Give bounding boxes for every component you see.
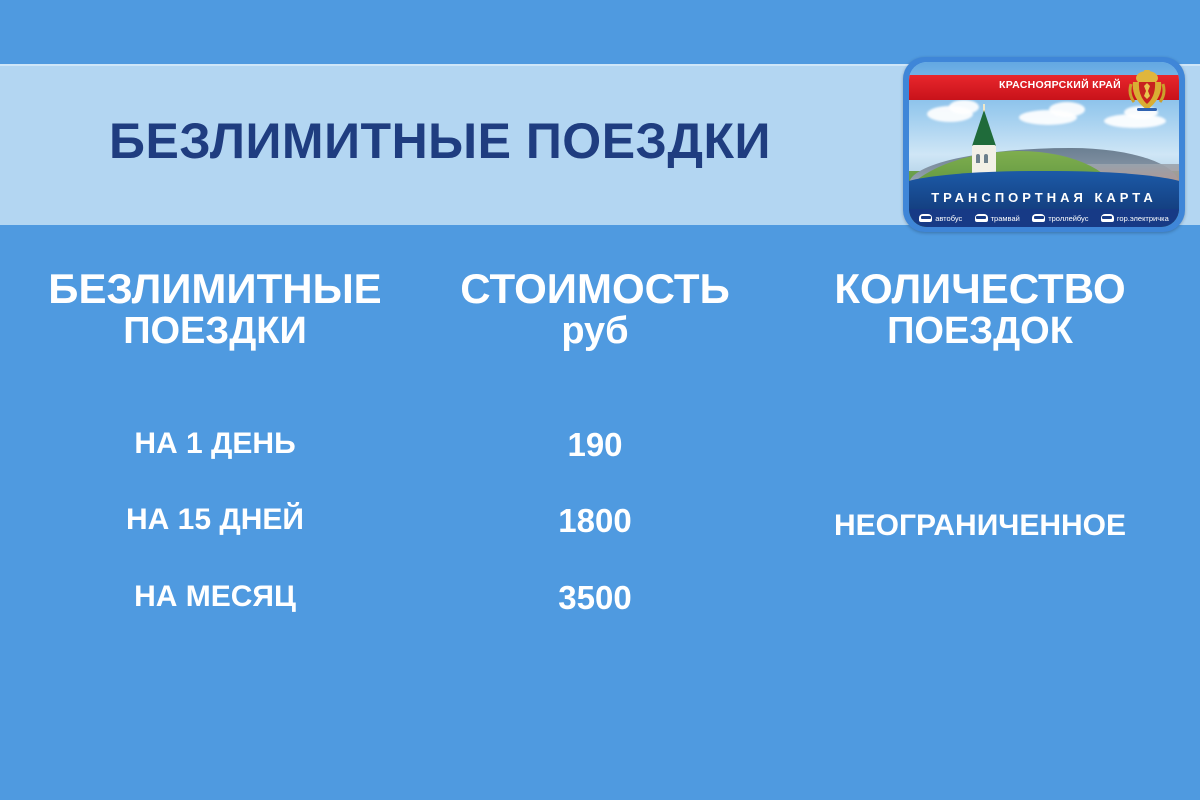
page-title: БЕЗЛИМИТНЫЕ ПОЕЗДКИ [0,112,880,170]
cell-trips-unlimited: НЕОГРАНИЧЕННОЕ [760,509,1200,543]
chapel-spire [972,110,996,146]
column-header-trips: КОЛИЧЕСТВО ПОЕЗДОК [760,266,1200,352]
transport-mode-tram: трамвай [975,214,1020,223]
chapel-icon [964,104,1004,182]
mode-label: троллейбус [1048,214,1088,223]
column-header-price-unit: руб [430,311,760,352]
mode-label: гор.электричка [1117,214,1169,223]
region-label: КРАСНОЯРСКИЙ КРАЙ [999,79,1121,91]
column-header-period-line1: БЕЗЛИМИТНЫЕ [48,265,381,312]
card-artwork: КРАСНОЯРСКИЙ КРАЙ ТРАНСПОРТНАЯ КАРТА [909,62,1179,227]
column-header-period-line2: ПОЕЗДКИ [0,311,430,352]
cell-price: 190 [430,427,760,463]
cell-price: 3500 [430,580,760,616]
coat-of-arms-icon [1127,66,1167,116]
trolleybus-icon [1032,214,1045,222]
cell-period: НА МЕСЯЦ [0,580,430,616]
transport-mode-train: гор.электричка [1101,214,1169,223]
cell-trips [760,427,1200,463]
cell-price: 1800 [430,503,760,539]
cell-period: НА 15 ДНЕЙ [0,503,430,539]
column-header-trips-line2: ПОЕЗДОК [760,311,1200,352]
cloud-shape [1049,102,1085,117]
transport-mode-trolleybus: троллейбус [1032,214,1088,223]
tram-icon [975,214,988,222]
card-title: ТРАНСПОРТНАЯ КАРТА [909,190,1179,205]
table-row: НА 1 ДЕНЬ 190 [0,427,1200,463]
mode-label: автобус [935,214,962,223]
column-header-trips-line1: КОЛИЧЕСТВО [834,265,1125,312]
cell-trips [760,580,1200,616]
mode-label: трамвай [991,214,1020,223]
transport-card-image: КРАСНОЯРСКИЙ КРАЙ ТРАНСПОРТНАЯ КАРТА [903,57,1185,232]
table-row: НА МЕСЯЦ 3500 [0,580,1200,616]
train-icon [1101,214,1114,222]
transport-mode-bus: автобус [919,214,962,223]
column-header-price: СТОИМОСТЬ руб [430,266,760,352]
bus-icon [919,214,932,222]
table-header-row: БЕЗЛИМИТНЫЕ ПОЕЗДКИ СТОИМОСТЬ руб КОЛИЧЕ… [0,266,1200,352]
column-header-period: БЕЗЛИМИТНЫЕ ПОЕЗДКИ [0,266,430,352]
chapel-window [976,154,980,163]
tariff-table: БЕЗЛИМИТНЫЕ ПОЕЗДКИ СТОИМОСТЬ руб КОЛИЧЕ… [0,232,1200,692]
column-header-price-line1: СТОИМОСТЬ [460,265,730,312]
poster-root: БЕЗЛИМИТНЫЕ ПОЕЗДКИ КРАСНОЯРСКИЙ КРАЙ [0,0,1200,800]
cell-period: НА 1 ДЕНЬ [0,427,430,463]
transport-modes-list: автобус трамвай троллейбус гор.электричк… [909,209,1179,227]
chapel-window [984,154,988,163]
